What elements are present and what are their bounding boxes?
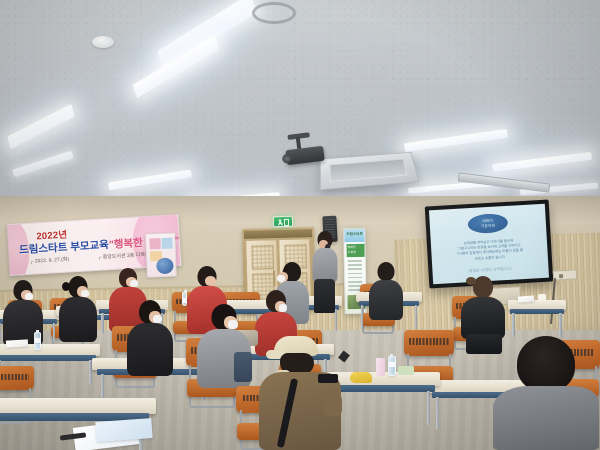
hair-bun — [466, 277, 476, 285]
exit-sign-icon — [273, 216, 293, 228]
chair-back — [404, 330, 454, 356]
slide-body: 상대방을 바라보고 이야기를 들으며, 그렇구나라는 반응을 보이며 고개를 끄… — [439, 237, 540, 264]
face-mask — [228, 320, 238, 329]
paper-handout — [95, 418, 152, 442]
attendee-torso — [493, 386, 599, 450]
photo-scene: 2022년 드림스타트 부모교육"행복한 소통법" ┌ 2022. 9. 27.… — [0, 0, 600, 450]
slide-heading-line2: 기본자세 — [481, 223, 495, 229]
attendee-torso — [461, 297, 505, 339]
desk — [508, 300, 566, 326]
hair-bun — [62, 282, 70, 291]
attendee-foreground-right — [492, 336, 600, 450]
attendee-jeans — [234, 352, 252, 382]
desk-top — [0, 398, 156, 414]
attendee-with-cap — [258, 336, 342, 450]
face-mask — [81, 290, 89, 297]
face-mask — [279, 304, 287, 312]
bottle-label — [183, 298, 186, 303]
attendee-torso — [127, 323, 173, 376]
attendee — [126, 300, 174, 376]
paper-cup — [538, 294, 546, 301]
attendee-torso — [369, 280, 403, 320]
attendee-face — [205, 276, 216, 286]
attendee-arm — [324, 394, 342, 416]
chair-label — [0, 374, 29, 380]
banner-date: ┌ 2022. 9. 27.(화) — [30, 256, 70, 265]
desk-apron — [510, 309, 563, 314]
bottle-label — [35, 338, 40, 343]
desk-leg — [101, 374, 104, 400]
desk-apron — [0, 355, 96, 361]
smartphone-icon — [318, 374, 338, 383]
face-mask — [130, 280, 138, 287]
chair-back — [0, 366, 34, 390]
ceiling-vent-icon — [252, 2, 296, 24]
wall-poster — [145, 232, 177, 277]
bottle-label — [389, 362, 395, 367]
poster-globe-icon — [156, 258, 174, 275]
standee-badge: 행복한 소통법 — [347, 244, 365, 257]
standee-header: 드림스타트 — [344, 229, 364, 242]
banner-title-main: 드림스타트 부모교육 — [19, 239, 109, 256]
attendee — [368, 262, 404, 320]
desk-leg — [415, 305, 418, 329]
water-bottle — [388, 356, 396, 376]
desk-leg — [101, 313, 104, 333]
attendee-head — [473, 276, 493, 298]
attendee-torso — [59, 297, 97, 342]
running-man-icon — [278, 219, 283, 226]
poster-swatch — [161, 238, 172, 249]
face-mask — [153, 315, 162, 323]
attendee-head — [378, 262, 395, 281]
paper-handout — [518, 295, 534, 302]
water-bottle — [182, 292, 187, 306]
slide-footer: 경청은 사랑의 시작입니다. — [432, 264, 548, 277]
paper-handout — [6, 339, 28, 347]
water-bottle — [34, 332, 41, 350]
attendee — [58, 276, 98, 342]
ceiling-projector — [281, 139, 330, 170]
poster-swatch — [149, 238, 160, 249]
face-mask — [25, 293, 33, 300]
attendee-head — [517, 336, 575, 392]
presentation-slide: 대화의 기본자세 상대방을 바라보고 이야기를 들으며, 그렇구나라는 반응을 … — [429, 204, 549, 285]
banana-icon — [350, 372, 372, 383]
presenter-torso — [313, 248, 338, 282]
projector-body — [285, 146, 325, 166]
standee-header-text: 드림스타트 — [346, 232, 363, 237]
exit-door-icon — [284, 219, 289, 226]
desk-leg — [361, 305, 364, 329]
snack-item — [398, 366, 414, 375]
smoke-detector-icon — [92, 36, 114, 48]
desk-leg — [512, 313, 515, 337]
desk-leg — [559, 313, 562, 337]
chair-label — [409, 338, 449, 344]
drink-carton — [376, 358, 385, 376]
standee-badge-line2: 소통법 — [347, 249, 365, 254]
desk-leg — [427, 391, 431, 425]
presenter-legs — [314, 279, 335, 313]
presenter — [312, 231, 338, 313]
wall-outlet[interactable] — [553, 269, 577, 280]
attendee — [196, 304, 252, 388]
door-panel — [251, 245, 274, 270]
slide-heading-badge: 대화의 기본자세 — [467, 213, 508, 234]
desk-leg — [0, 323, 1, 341]
